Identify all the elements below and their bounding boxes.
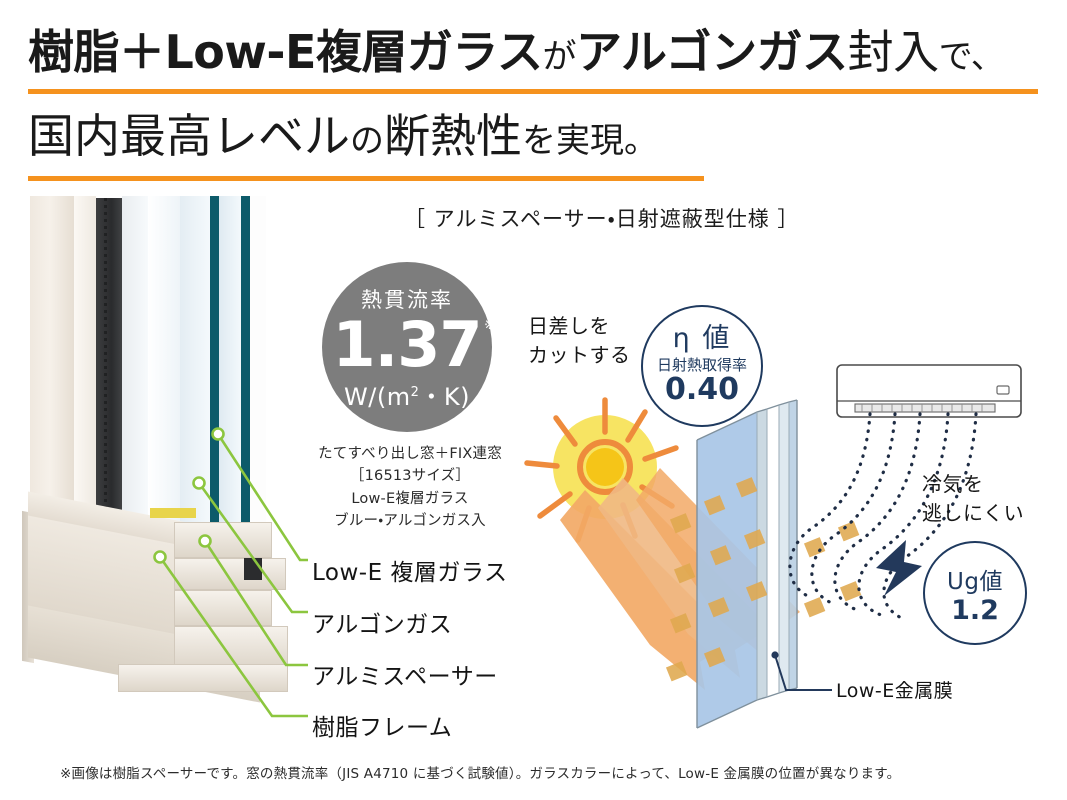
spec-detail-line-2: ［16513サイズ］ (290, 465, 530, 487)
ug-badge-value: 1.2 (925, 596, 1025, 626)
headline-line2-part2: の (350, 121, 384, 161)
headline-underline-1 (28, 89, 1038, 94)
ug-badge-title: Ug値 (925, 543, 1025, 596)
air-conditioner-icon (837, 365, 1021, 417)
headline-line1-part6: で、 (939, 37, 1005, 77)
headline-line1-part2: Low-E複層ガラス (165, 25, 543, 79)
lowe-film-leader-line (775, 655, 832, 690)
spec-detail-line-4: ブルー・アルゴンガス入 (290, 510, 530, 532)
resin-profile-chamber-4 (174, 626, 288, 668)
callout-label-low-e-glass: Low-E 複層ガラス (312, 553, 507, 587)
u-value-unit: W/(m2・K) (322, 377, 492, 412)
spec-header-text: ［ アルミスペーサー・日射遮蔽型仕様 ］ (404, 203, 904, 233)
sun-icon (527, 400, 676, 540)
callout-label-resin-frame: 樹脂フレーム (312, 708, 452, 742)
resin-profile-chamber-1 (174, 522, 272, 558)
headline-line-2: 国内最高レベルの断熱性を実現。 (28, 109, 1038, 164)
eta-badge-title: η 値 (643, 307, 761, 355)
sunlight-cut-label-line-1: 日差しを (528, 312, 631, 341)
sunlight-cut-label: 日差しを カットする (528, 312, 631, 370)
u-unit-prefix: W/( (344, 383, 387, 411)
cold-air-return-arrow (876, 540, 922, 596)
headline-block: 樹脂＋Low-E複層ガラスがアルゴンガス封入で、 国内最高レベルの断熱性を実現。 (28, 26, 1038, 164)
ug-value-badge: Ug値 1.2 (923, 541, 1027, 645)
headline-line1-part1: 樹脂 (28, 25, 119, 79)
headline-line-1: 樹脂＋Low-E複層ガラスがアルゴンガス封入で、 (28, 26, 1038, 79)
resin-profile-chamber-5 (118, 664, 288, 692)
cold-air-label-line-2: 逃しにくい (922, 499, 1024, 528)
u-value-title: 熱貫流率 (322, 262, 492, 314)
eta-badge-value: 0.40 (643, 374, 761, 406)
spec-detail-line-3: Low-E複層ガラス (290, 488, 530, 510)
headline-line1-plus: ＋ (119, 25, 165, 79)
u-value-number: 1.37※ (322, 316, 492, 375)
glass-panel-diagram (697, 400, 797, 728)
resin-profile-chamber-3 (174, 590, 272, 626)
headline-line1-part4: アルゴンガス (576, 25, 848, 79)
u-value-figure: 1.37 (333, 308, 482, 381)
eta-value-badge: η 値 日射熱取得率 0.40 (641, 305, 763, 427)
solar-ray-arrows (560, 468, 800, 690)
lowe-film-anchor-dot (771, 651, 778, 658)
solar-heat-particles (666, 477, 861, 681)
u-unit-m: m (387, 383, 411, 411)
window-cross-section-image (22, 196, 322, 756)
spec-detail-block: たてすべり出し窓＋FIX連窓 ［16513サイズ］ Low-E複層ガラス ブルー… (290, 443, 530, 533)
spacer-seal (150, 508, 196, 518)
infographic-canvas: 樹脂＋Low-E複層ガラスがアルゴンガス封入で、 国内最高レベルの断熱性を実現。… (0, 0, 1067, 800)
headline-line1-part5: 封入 (848, 25, 939, 79)
headline-line2-part1: 国内最高レベル (28, 109, 350, 163)
lowe-film-label: Low-E金属膜 (836, 676, 953, 703)
footnote-text: ※画像は樹脂スペーサーです。窓の熱貫流率（JIS A4710 に基づく試験値）。… (60, 762, 1040, 782)
u-value-asterisk: ※ (484, 320, 494, 332)
u-value-badge: 熱貫流率 1.37※ W/(m2・K) (322, 262, 492, 432)
callout-label-aluminium-spacer: アルミスペーサー (312, 657, 498, 691)
resin-profile-chamber-2 (174, 558, 286, 590)
sunlight-cut-label-line-2: カットする (528, 341, 631, 370)
headline-line2-part3: 断熱性 (384, 109, 522, 163)
cold-air-label-line-1: 冷気を (922, 470, 1024, 499)
headline-line2-part4: を実現。 (522, 121, 658, 161)
callout-label-argon-gas: アルゴンガス (312, 605, 452, 639)
window-sill-assembly (22, 496, 290, 746)
headline-line1-part3: が (543, 37, 577, 77)
profile-dark-insert (244, 558, 262, 580)
cold-air-label: 冷気を 逃しにくい (922, 470, 1024, 528)
spec-detail-line-1: たてすべり出し窓＋FIX連窓 (290, 443, 530, 465)
u-unit-suffix: ・K) (419, 383, 470, 411)
headline-underline-2 (28, 176, 704, 181)
